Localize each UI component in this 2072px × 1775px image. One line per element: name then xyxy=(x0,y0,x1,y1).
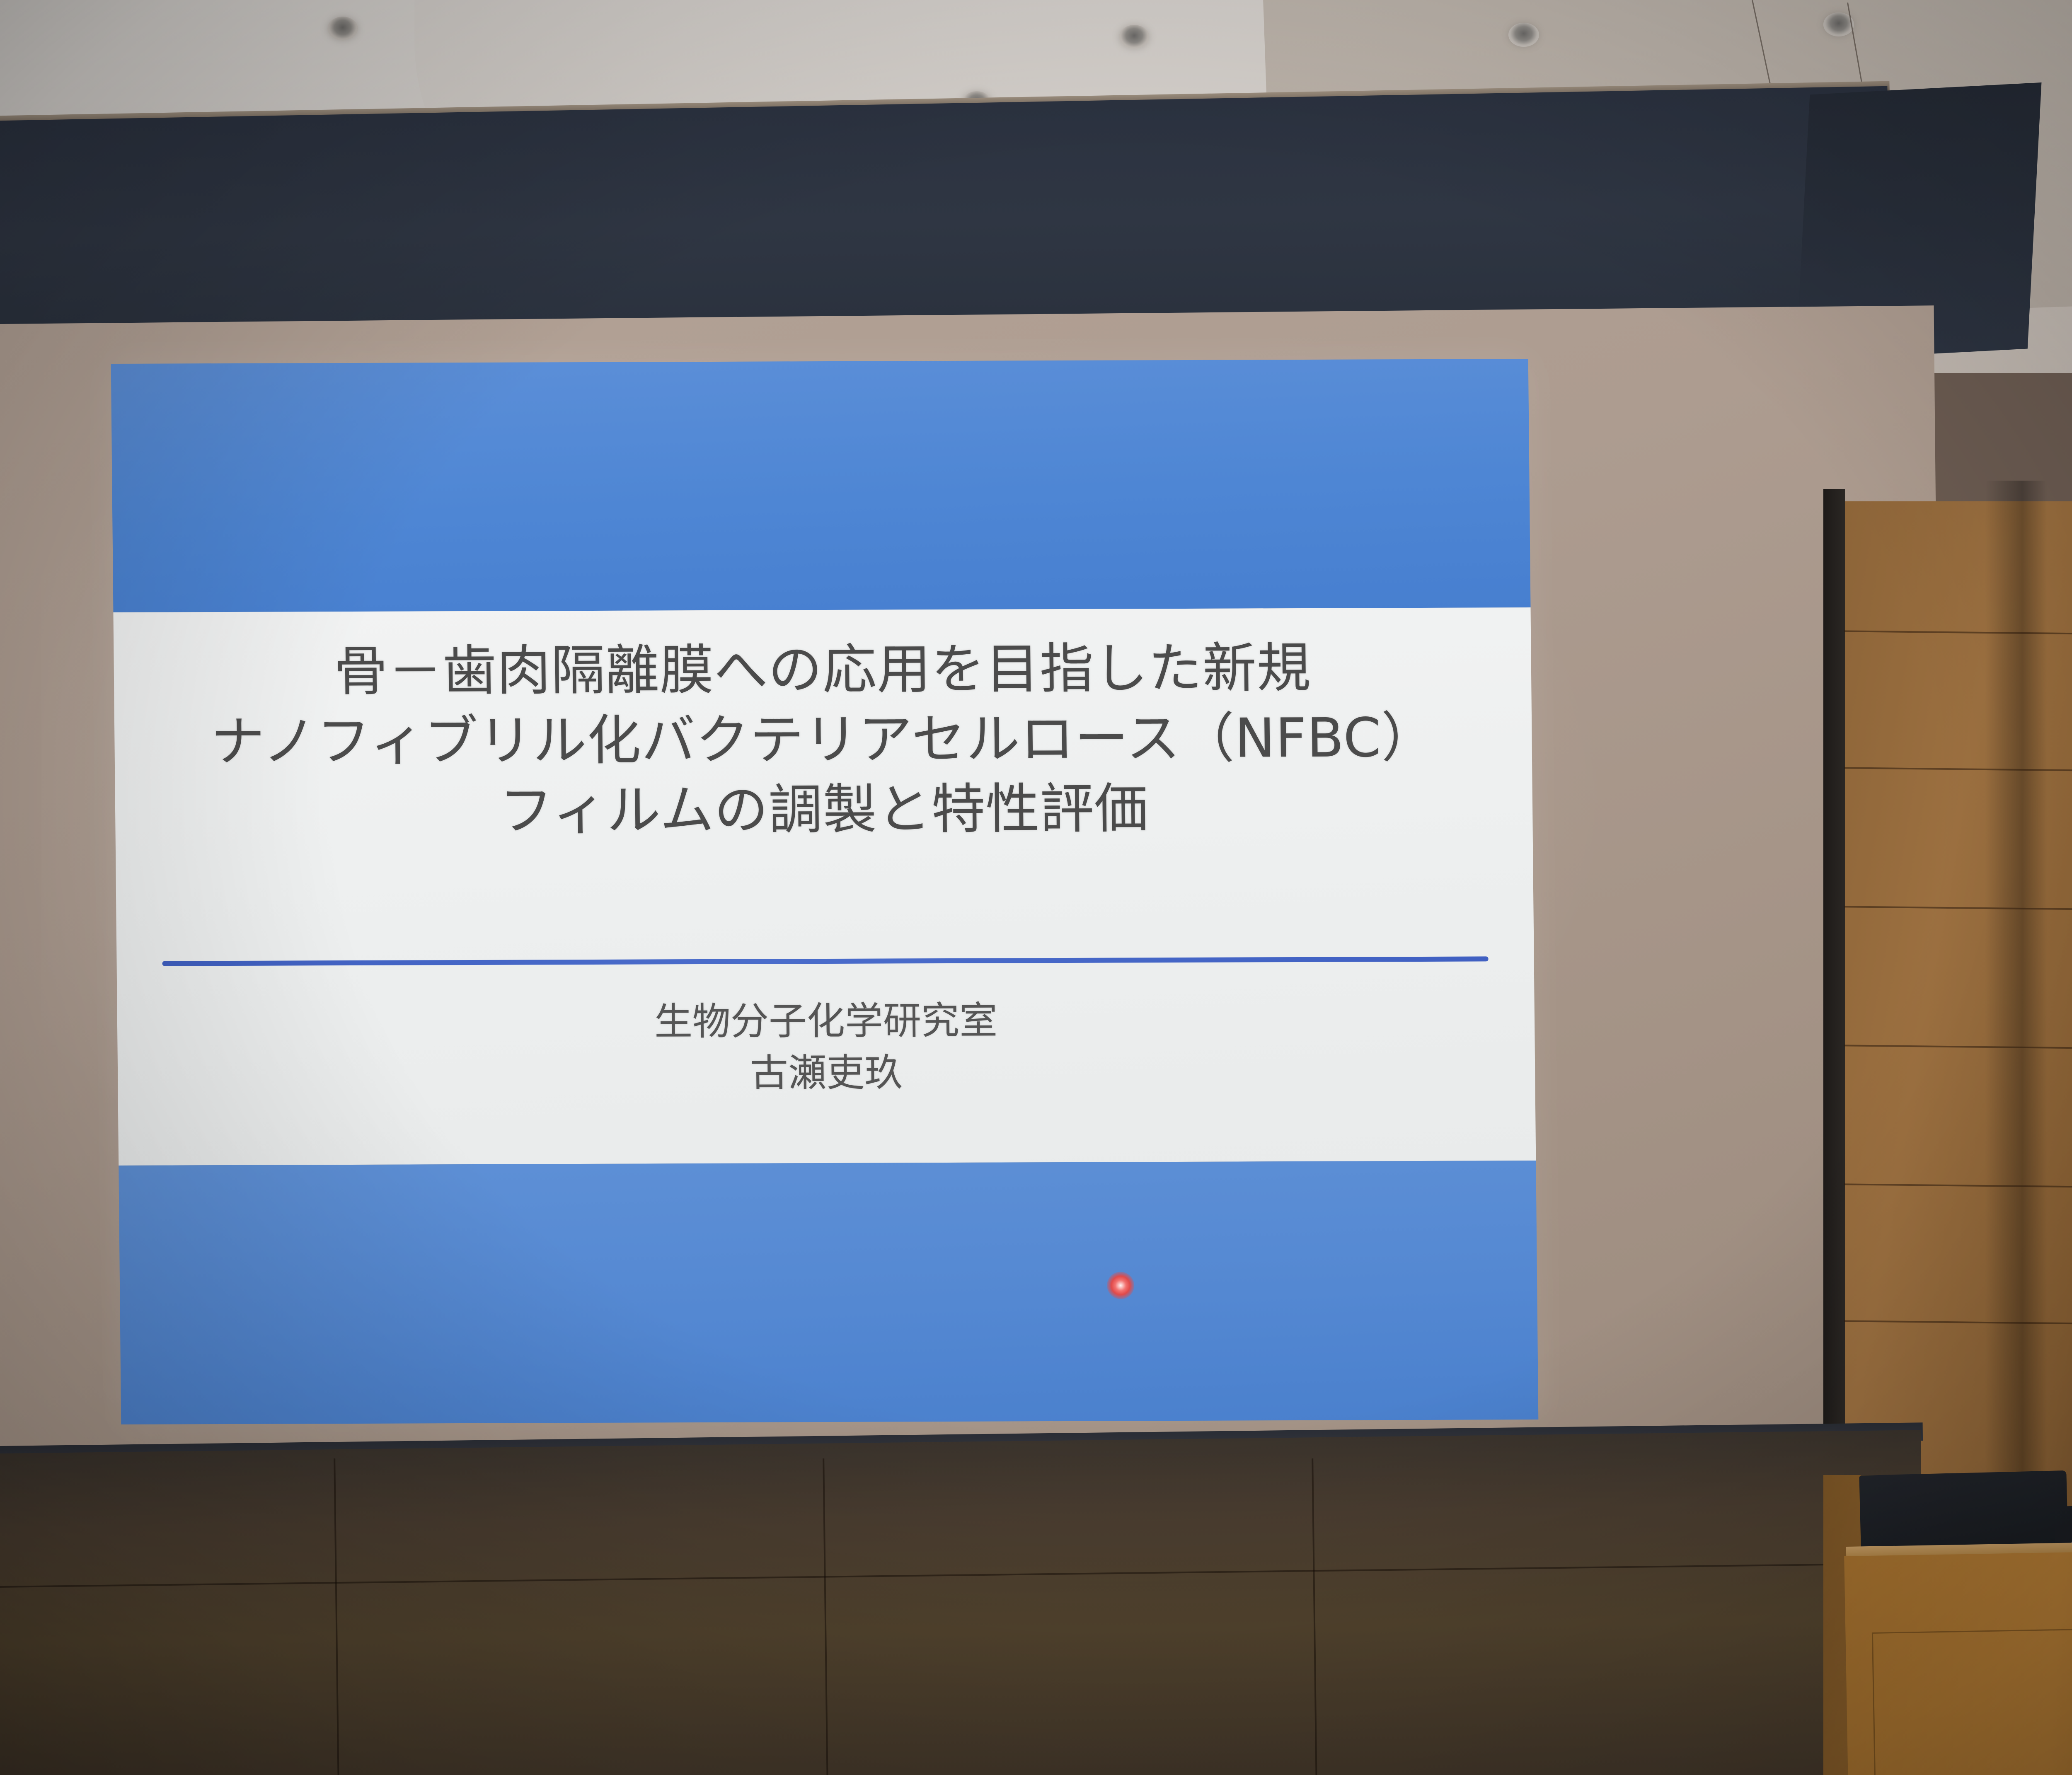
slide-title: 骨－歯肉隔離膜への応用を目指した新規 ナノフィブリル化バクテリアセルロース（NF… xyxy=(114,632,1533,847)
downlight-icon xyxy=(1119,25,1150,49)
slide-bottom-band xyxy=(119,1161,1538,1424)
laser-pointer-dot xyxy=(1107,1272,1135,1299)
downlight-icon xyxy=(1508,23,1539,47)
slide-title-line-1: 骨－歯肉隔離膜への応用を目指した新規 xyxy=(114,632,1532,707)
downlight-icon xyxy=(327,17,358,41)
slide-subtitle: 生物分子化学研究室 古瀬吏玖 xyxy=(117,993,1535,1101)
slide-title-line-2: ナノフィブリル化バクテリアセルロース（NFBC） xyxy=(114,702,1532,777)
slide-subtitle-lab: 生物分子化学研究室 xyxy=(117,993,1535,1050)
projected-slide: 骨－歯肉隔離膜への応用を目指した新規 ナノフィブリル化バクテリアセルロース（NF… xyxy=(111,359,1539,1424)
slide-subtitle-author: 古瀬吏玖 xyxy=(118,1045,1535,1101)
lecture-hall-scene: 骨－歯肉隔離膜への応用を目指した新規 ナノフィブリル化バクテリアセルロース（NF… xyxy=(0,0,2072,1775)
lower-wall-panels xyxy=(0,1430,1925,1775)
slide-top-band xyxy=(111,359,1531,612)
slide-title-line-3: フィルムの調製と特性評価 xyxy=(115,772,1533,847)
podium-front-panel xyxy=(1872,1624,2072,1775)
